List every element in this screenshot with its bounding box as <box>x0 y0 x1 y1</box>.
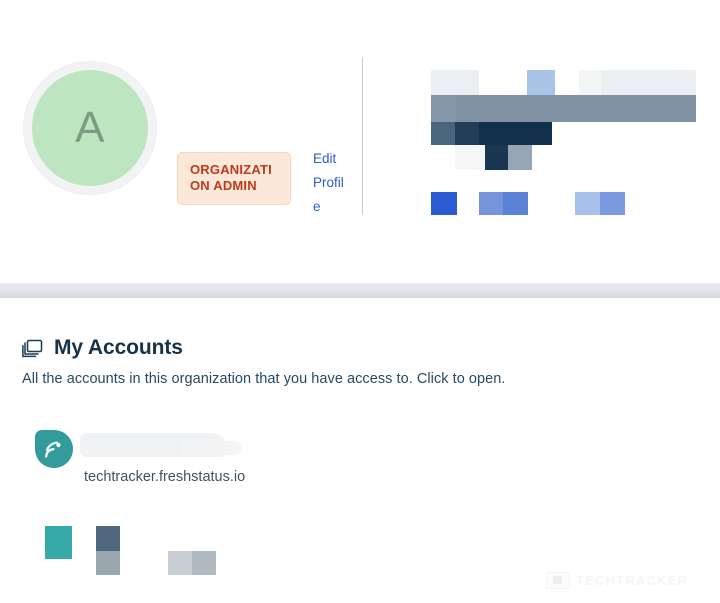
section-separator-band <box>0 283 720 299</box>
redacted-block <box>601 70 696 95</box>
avatar-initial: A <box>32 70 148 186</box>
section-description: All the accounts in this organization th… <box>22 371 505 387</box>
redacted-block <box>431 95 456 122</box>
redacted-block <box>508 145 532 170</box>
redacted-block <box>431 192 457 215</box>
redacted-block <box>555 70 579 95</box>
redacted-block <box>455 122 479 145</box>
redacted-account-name <box>80 433 228 457</box>
account-url[interactable]: techtracker.freshstatus.io <box>84 469 245 485</box>
redacted-block <box>96 551 120 575</box>
redacted-block <box>579 70 601 95</box>
section-header: My Accounts <box>22 336 183 360</box>
windows-stack-icon <box>22 339 43 358</box>
page-title: My Accounts <box>54 336 183 360</box>
redacted-block <box>45 526 72 559</box>
redacted-block <box>431 122 455 145</box>
redacted-block <box>575 192 600 215</box>
redacted-block <box>600 192 625 215</box>
redacted-block <box>192 551 216 575</box>
edit-profile-link[interactable]: Edit Profile <box>313 147 351 219</box>
vertical-divider <box>362 57 363 215</box>
redacted-block <box>485 145 508 170</box>
redacted-block <box>479 70 527 95</box>
role-badge: ORGANIZATION ADMIN <box>177 152 291 205</box>
profile-header: A ORGANIZATION ADMIN Edit Profile <box>0 0 720 283</box>
redacted-block <box>503 192 528 215</box>
redacted-block <box>479 122 552 145</box>
my-accounts-section: My Accounts All the accounts in this org… <box>0 298 720 603</box>
redacted-block <box>455 145 485 170</box>
avatar: A <box>24 62 156 194</box>
redacted-user-name <box>163 90 353 136</box>
account-list-item[interactable]: techtracker.freshstatus.io <box>18 416 418 488</box>
redacted-block <box>479 192 503 215</box>
redacted-block <box>96 526 120 551</box>
redacted-block <box>527 70 555 95</box>
redacted-block <box>168 551 192 575</box>
freshstatus-logo-icon <box>33 428 75 470</box>
redacted-block <box>431 70 479 95</box>
redacted-block <box>456 95 696 122</box>
